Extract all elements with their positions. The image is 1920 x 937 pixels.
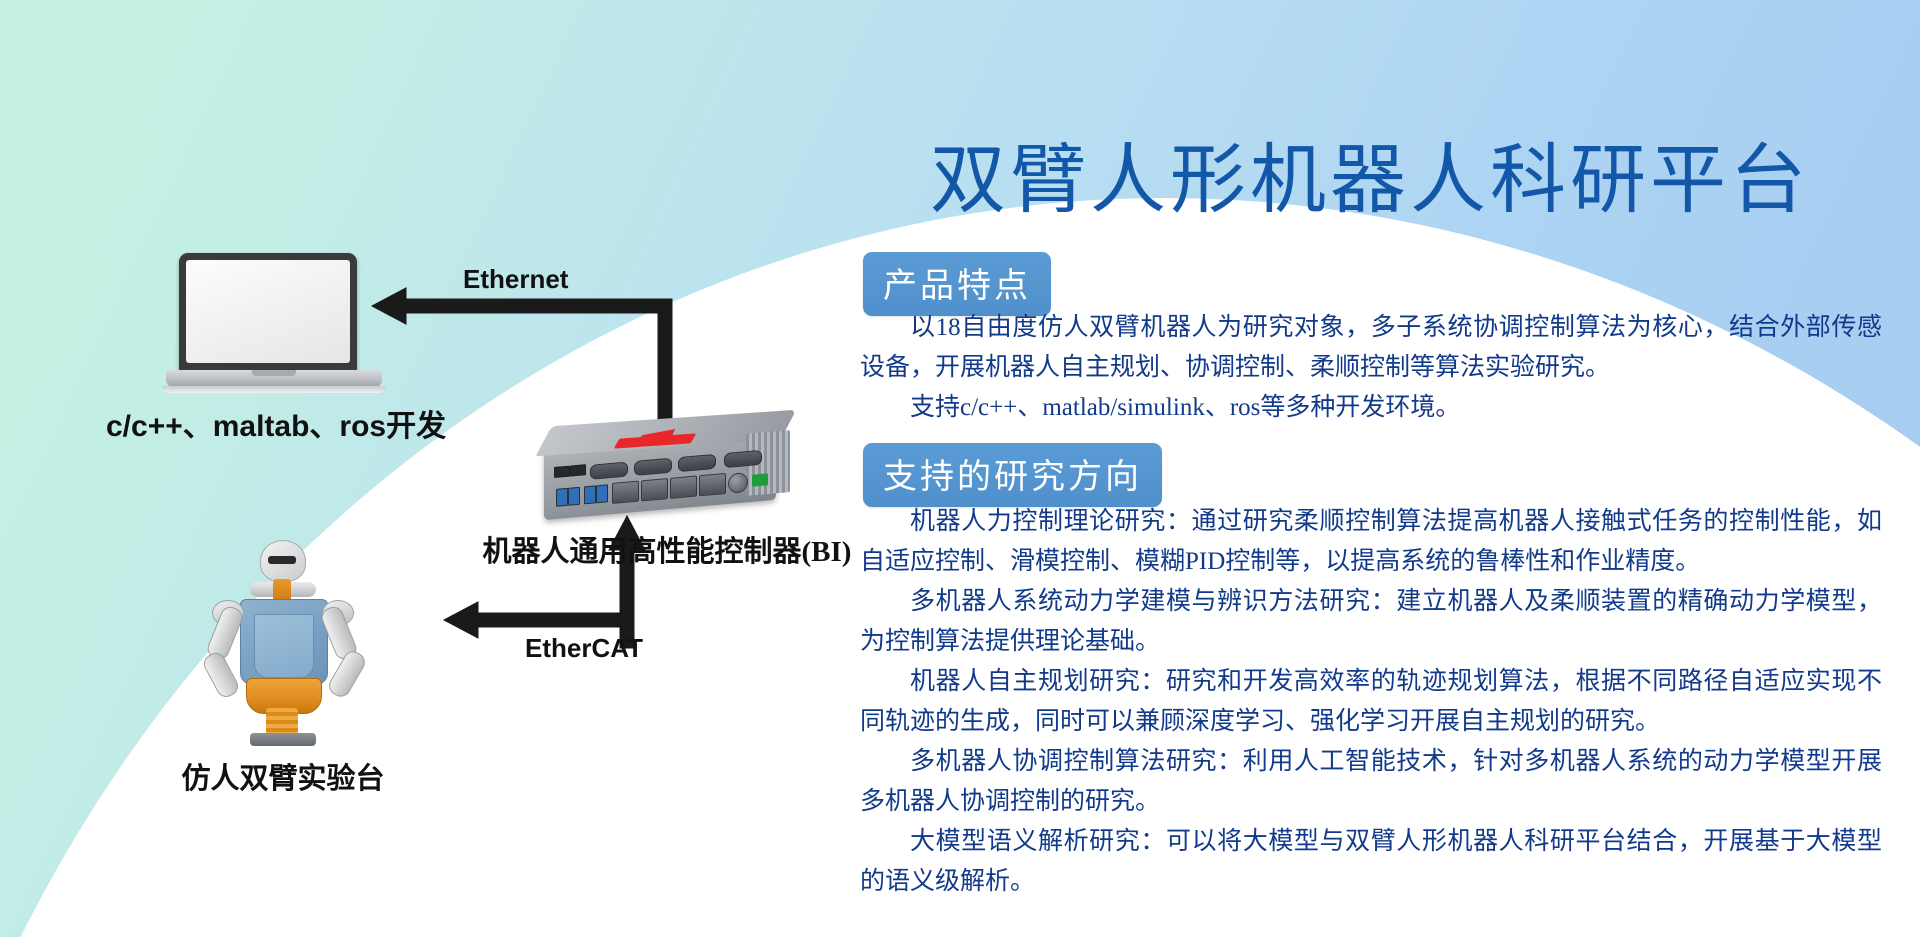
- section-badge-research-directions: 支持的研究方向: [863, 443, 1162, 507]
- robot-neck: [273, 579, 291, 601]
- usb3-port-icon: [568, 487, 580, 506]
- ethernet-port-icon: [641, 478, 668, 501]
- laptop-lid: [179, 253, 357, 371]
- usb-port-icon: [554, 466, 570, 478]
- terminal-block-icon: [752, 473, 768, 486]
- product-features-paragraph-1: 以18自由度仿人双臂机器人为研究对象，多子系统协调控制算法为核心，结合外部传感设…: [860, 308, 1882, 388]
- serial-port-icon: [678, 454, 716, 472]
- research-direction-item-1: 机器人力控制理论研究：通过研究柔顺控制算法提高机器人接触式任务的控制性能，如自适…: [860, 502, 1882, 582]
- system-architecture-diagram: c/c++、maltab、ros开发: [0, 0, 840, 937]
- page-title: 双臂人形机器人科研平台: [842, 118, 1898, 228]
- laptop-icon: c/c++、maltab、ros开发: [166, 253, 382, 403]
- research-direction-item-2: 多机器人系统动力学建模与辨识方法研究：建立机器人及柔顺装置的精确动力学模型，为控…: [860, 582, 1882, 662]
- robot-chest-plate: [254, 614, 314, 678]
- serial-port-icon: [590, 462, 628, 480]
- power-connector-icon: [728, 472, 748, 494]
- poster-canvas: c/c++、maltab、ros开发: [0, 0, 1920, 937]
- serial-port-icon: [634, 458, 672, 476]
- ethernet-port-icon: [612, 481, 639, 504]
- serial-port-icon: [724, 450, 762, 468]
- ethercat-connection-label: EtherCAT: [525, 633, 643, 664]
- ethernet-port-icon: [670, 476, 697, 499]
- robot-visor: [268, 556, 296, 564]
- research-direction-item-3: 机器人自主规划研究：研究和开发高效率的轨迹规划算法，根据不同路径自适应实现不同轨…: [860, 662, 1882, 742]
- ethernet-port-icon: [699, 473, 726, 496]
- research-direction-item-4: 多机器人协调控制算法研究：利用人工智能技术，针对多机器人系统的动力学模型开展多机…: [860, 742, 1882, 822]
- laptop-trackpad-notch: [252, 370, 296, 376]
- robot-left-forearm: [200, 650, 241, 701]
- robot-base-plate: [250, 733, 316, 746]
- section-badge-product-features: 产品特点: [863, 252, 1051, 316]
- laptop-screen: [186, 260, 350, 363]
- usb-port-icon: [570, 464, 586, 476]
- usb3-port-icon: [584, 485, 596, 504]
- robot-support-column: [266, 708, 298, 736]
- dual-arm-humanoid-robot-icon: 仿人双臂实验台: [188, 540, 378, 750]
- research-direction-item-5: 大模型语义解析研究：可以将大模型与双臂人形机器人科研平台结合，开展基于大模型的语…: [860, 822, 1882, 902]
- robot-right-forearm: [325, 648, 368, 701]
- laptop-shadow: [162, 386, 386, 393]
- usb3-port-icon: [596, 484, 608, 503]
- laptop-label: c/c++、maltab、ros开发: [106, 401, 442, 445]
- industrial-controller-icon: 机器人通用高性能控制器(BI): [522, 416, 812, 526]
- usb3-port-icon: [556, 488, 568, 507]
- ethernet-connection-label: Ethernet: [463, 264, 568, 295]
- content-panel: 双臂人形机器人科研平台 产品特点 以18自由度仿人双臂机器人为研究对象，多子系统…: [836, 0, 1920, 937]
- product-features-paragraph-2: 支持c/c++、matlab/simulink、ros等多种开发环境。: [860, 388, 1882, 428]
- robot-label: 仿人双臂实验台: [78, 755, 488, 797]
